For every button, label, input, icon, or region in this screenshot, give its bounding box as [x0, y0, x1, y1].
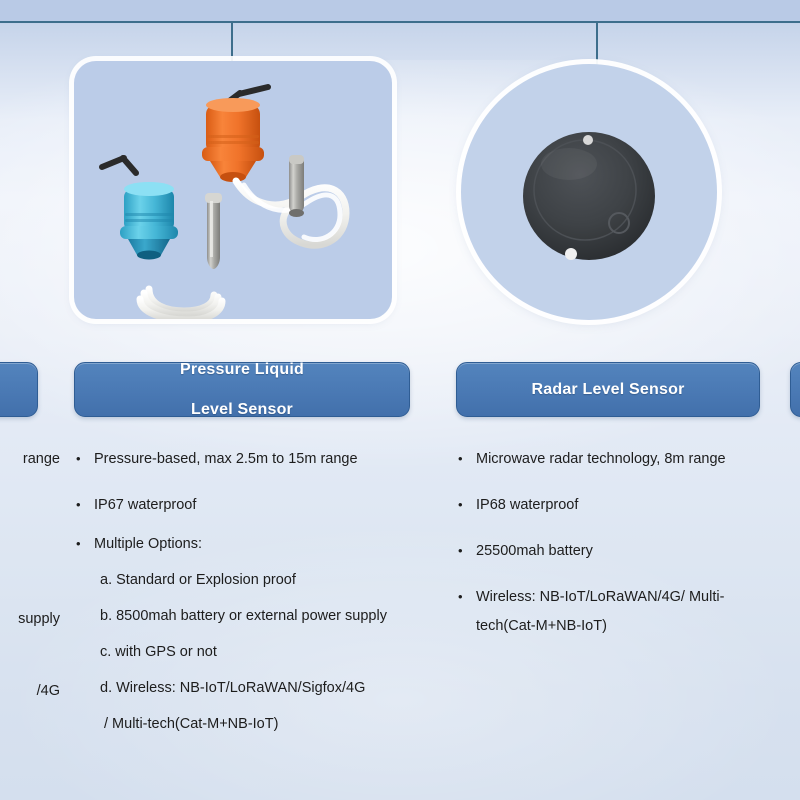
- cutoff-text-supply: supply: [0, 610, 60, 629]
- pressure-option-d: d. Wireless: NB-IoT/LoRaWAN/Sigfox/4G: [74, 679, 434, 698]
- connector-vertical-line-left: [231, 22, 233, 64]
- radar-bullet-3: 25500mah battery: [456, 542, 776, 561]
- feature-column-pressure: Pressure-based, max 2.5m to 15m range IP…: [74, 450, 434, 734]
- connector-vertical-line-right: [596, 22, 598, 68]
- radar-bullet-2: IP68 waterproof: [456, 496, 776, 515]
- pressure-bullet-2: IP67 waterproof: [74, 496, 434, 515]
- pressure-title-line2: Level Sensor: [180, 400, 304, 420]
- slide-canvas: Pressure Liquid Level Sensor Radar Level…: [0, 0, 800, 800]
- pressure-sensor-image-panel: [74, 61, 392, 319]
- radar-bullet-1: Microwave radar technology, 8m range: [456, 450, 776, 469]
- cutoff-text-range: range: [0, 450, 60, 469]
- pressure-option-b: b. 8500mah battery or external power sup…: [74, 607, 434, 626]
- pressure-option-c: c. with GPS or not: [74, 643, 434, 662]
- header-pill-cutoff-right[interactable]: [790, 362, 800, 417]
- pressure-sensor-illustration: [74, 61, 392, 319]
- radar-bullet-4-continued: tech(Cat-M+NB-IoT): [456, 617, 776, 636]
- radar-sensor-image-panel: [461, 64, 717, 320]
- header-pill-radar-level-sensor[interactable]: Radar Level Sensor: [456, 362, 760, 417]
- radar-bullet-4: Wireless: NB-IoT/LoRaWAN/4G/ Multi-: [456, 588, 776, 607]
- feature-column-radar: Microwave radar technology, 8m range IP6…: [456, 450, 776, 636]
- pressure-bullet-3: Multiple Options:: [74, 535, 434, 554]
- pressure-option-d-continued: / Multi-tech(Cat-M+NB-IoT): [74, 715, 434, 734]
- radar-sensor-illustration: [461, 64, 717, 320]
- header-pill-cutoff-left[interactable]: [0, 362, 38, 417]
- pressure-bullet-1: Pressure-based, max 2.5m to 15m range: [74, 450, 434, 469]
- feature-column-cutoff-left: range supply /4G: [0, 450, 60, 701]
- header-pill-pressure-liquid-level-sensor[interactable]: Pressure Liquid Level Sensor: [74, 362, 410, 417]
- connector-horizontal-line: [0, 21, 800, 23]
- radar-title: Radar Level Sensor: [532, 380, 685, 400]
- pressure-option-a: a. Standard or Explosion proof: [74, 571, 434, 590]
- pressure-title-line1: Pressure Liquid: [180, 360, 304, 380]
- cutoff-text-4g: /4G: [0, 682, 60, 701]
